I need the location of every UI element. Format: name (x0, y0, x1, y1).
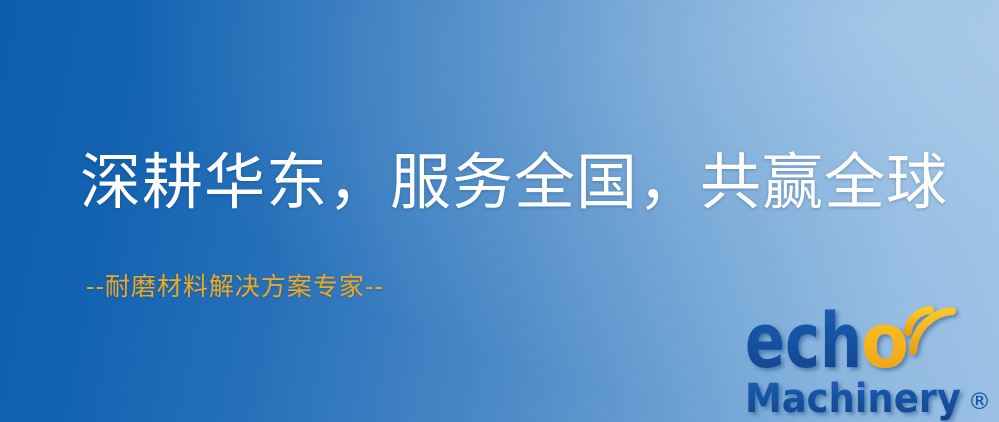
company-logo: ech o Machinery ® (737, 294, 999, 422)
echo-wave-icon (908, 310, 952, 351)
logo-o-text: o (861, 296, 909, 385)
banner-subtitle: --耐磨材料解决方案专家-- (86, 267, 384, 303)
logo-wordmark-o: o (861, 296, 909, 385)
registered-trademark-icon: ® (968, 389, 991, 415)
banner-headline: 深耕华东，服务全国，共赢全球 (80, 151, 948, 215)
logo-tagline: Machinery (745, 376, 961, 422)
registered-mark-text: ® (968, 389, 991, 415)
logo-wordmark-ech: ech (745, 296, 862, 385)
logo-ech-text: ech (745, 296, 862, 385)
logo-machinery-text: Machinery (745, 376, 961, 422)
hero-banner: 深耕华东，服务全国，共赢全球 --耐磨材料解决方案专家-- (0, 0, 999, 422)
